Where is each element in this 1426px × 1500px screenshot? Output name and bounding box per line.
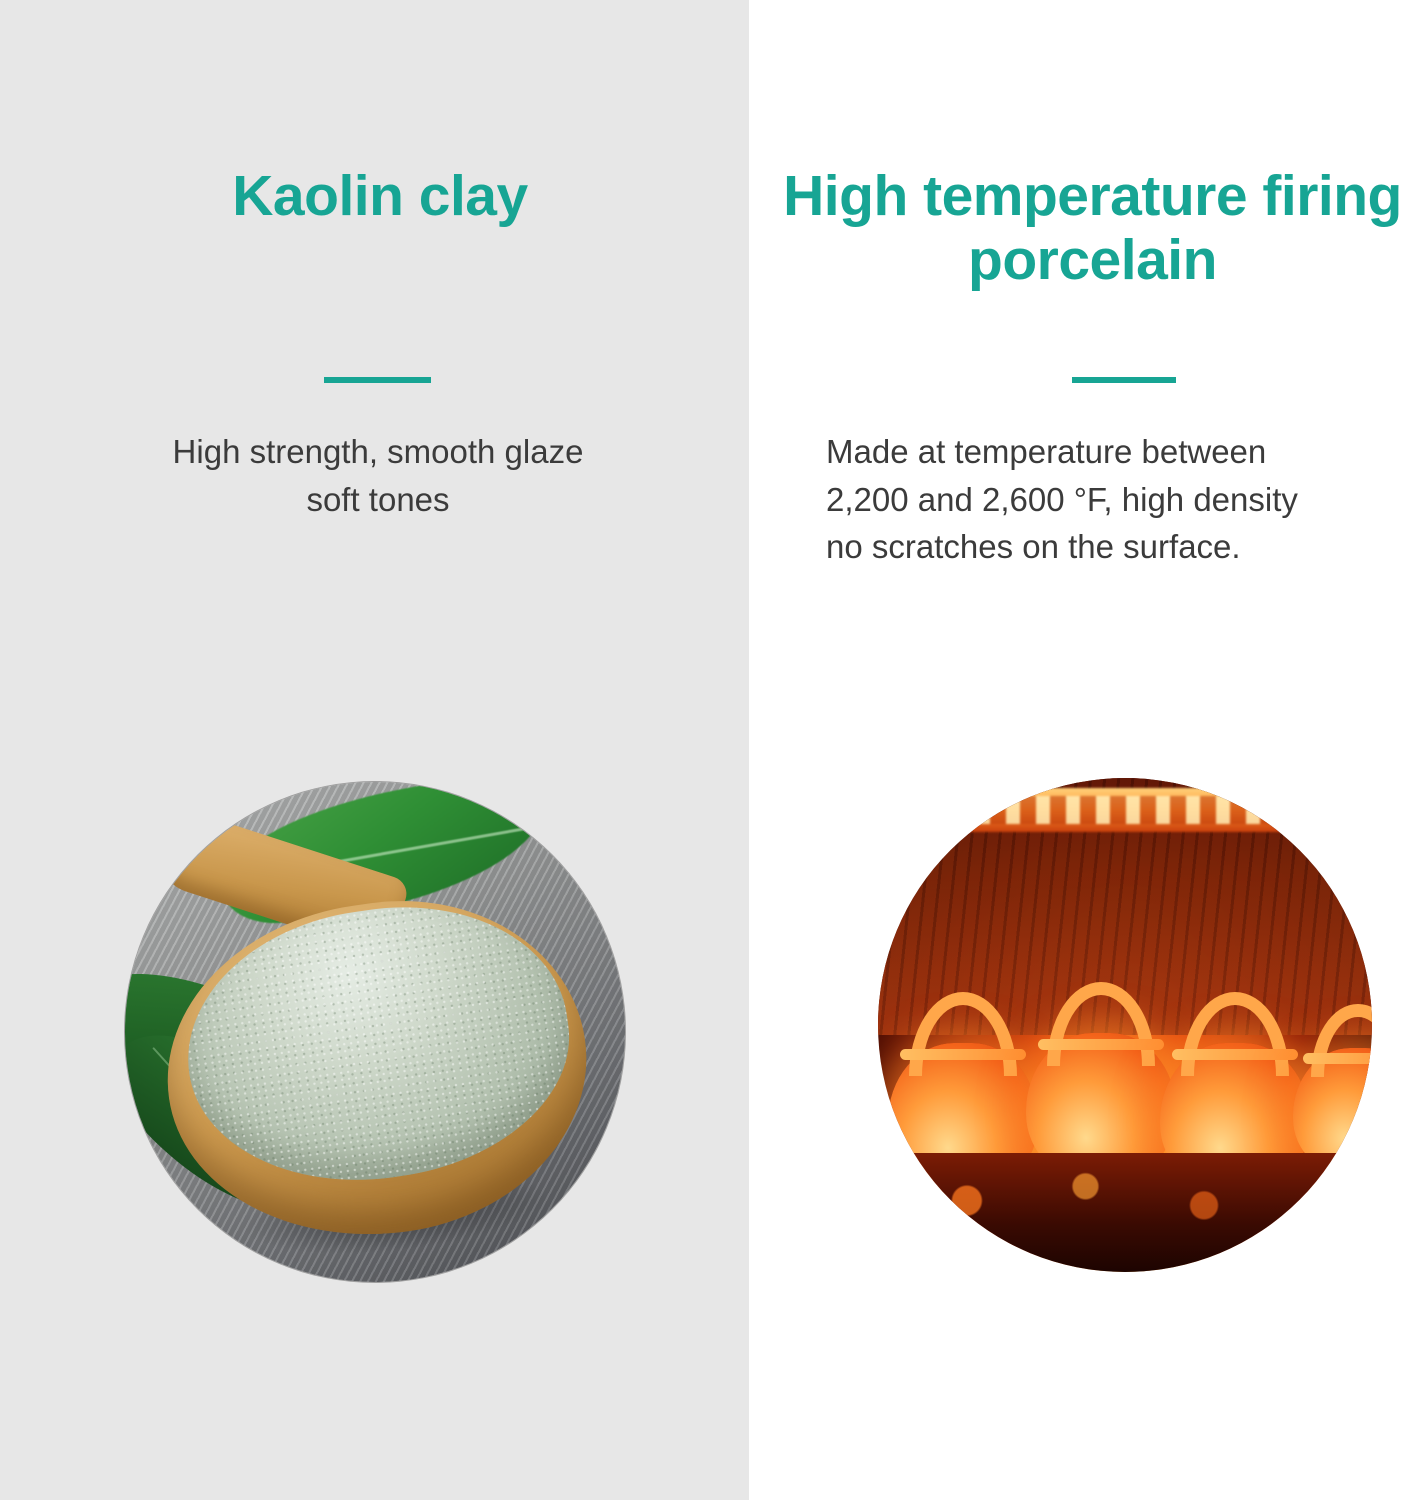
kaolin-clay-photo-inner	[125, 782, 625, 1282]
left-panel-body: High strength, smooth glaze soft tones	[60, 428, 696, 523]
left-accent-divider	[324, 377, 431, 383]
right-panel-heading: High temperature firing porcelain	[770, 165, 1415, 293]
right-body-line-2: 2,200 and 2,600 °F, high density	[826, 476, 1426, 524]
right-body-line-3: no scratches on the surface.	[826, 523, 1426, 571]
left-body-line-2: soft tones	[60, 476, 696, 524]
kaolin-clay-photo	[125, 782, 625, 1282]
kiln-firing-photo	[878, 778, 1372, 1272]
kiln-ember-bed	[878, 1153, 1372, 1272]
right-panel-body: Made at temperature between 2,200 and 2,…	[826, 428, 1426, 571]
right-accent-divider	[1072, 377, 1176, 383]
right-heading-line-1: High temperature	[783, 164, 1247, 228]
kiln-firing-photo-inner	[878, 778, 1372, 1272]
right-body-line-1: Made at temperature between	[826, 428, 1426, 476]
product-feature-infographic: Kaolin clay High strength, smooth glaze …	[0, 0, 1426, 1500]
left-body-line-1: High strength, smooth glaze	[60, 428, 696, 476]
left-panel-heading: Kaolin clay	[60, 165, 700, 229]
kiln-ceiling-element	[908, 788, 1343, 832]
